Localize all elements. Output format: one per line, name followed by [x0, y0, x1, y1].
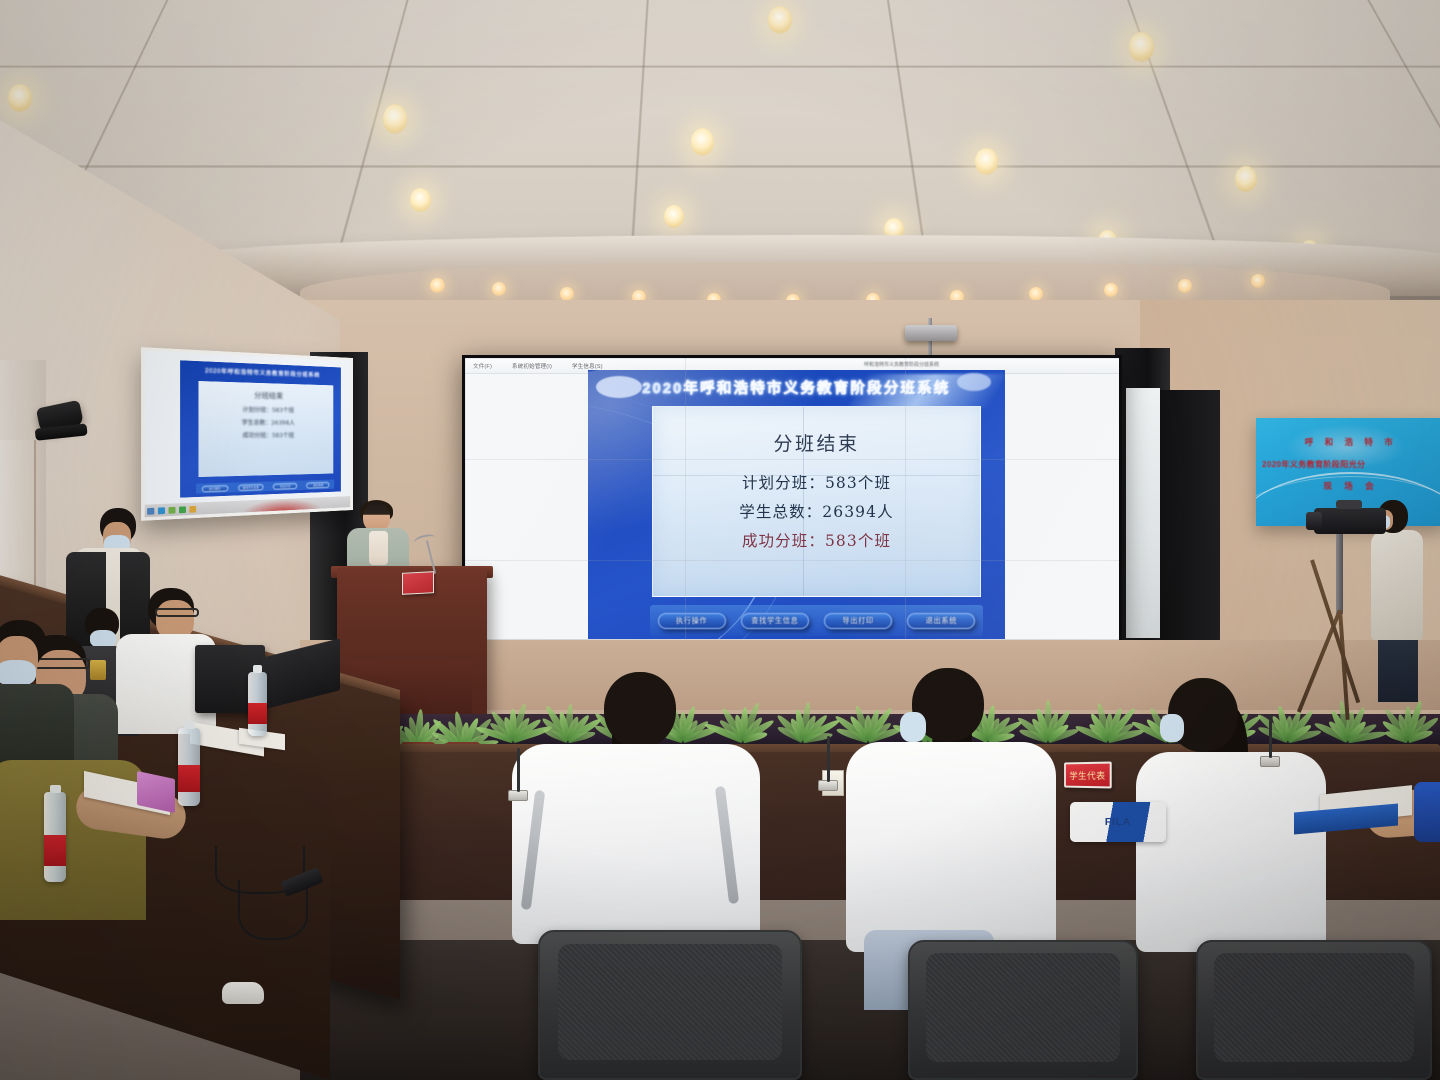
potted-plant [845, 694, 891, 740]
camera-lens-icon [1306, 512, 1322, 530]
wall-tv-panel: 分班结束 计划分班：583个班 学生总数：26394人 成功分班：583个班 [198, 381, 333, 477]
ceiling-downlight [1129, 32, 1154, 62]
ceiling-downlight [430, 278, 445, 293]
ceiling-projector [905, 325, 957, 341]
student-representative-sign: 学生代表 [1064, 761, 1112, 788]
glasses-icon [155, 608, 199, 617]
fila-armband: FILA [1070, 802, 1166, 842]
menu-item-student-info[interactable]: 学生信息(S) [572, 362, 603, 370]
wall-tv-app-title: 2020年呼和浩特市义务教育阶段分班系统 [185, 365, 337, 379]
wall-tv-line: 学生总数：26394人 [198, 417, 333, 426]
menu-item-system-init[interactable]: 系统初始管理(I) [512, 362, 552, 370]
ceiling-downlight [410, 188, 431, 212]
right-glass-panel [1126, 388, 1160, 638]
potted-plant [395, 702, 441, 748]
menu-item-file[interactable]: 文件(F) [473, 362, 492, 370]
wall-tv-screen: 2020年呼和浩特市义务教育阶段分班系统 分班结束 计划分班：583个班 学生总… [145, 351, 350, 517]
exit-system-button[interactable]: 退出系统 [907, 613, 975, 629]
video-camera [1314, 508, 1386, 534]
potted-plant [780, 694, 826, 740]
podium-emblem [402, 571, 434, 595]
panel-heading: 分班结束 [653, 429, 980, 456]
student-white-shirt [1136, 752, 1326, 952]
wall-tv-line: 成功分班：583个班 [198, 431, 333, 440]
potted-plant [1085, 694, 1131, 740]
wall-tv-button-bar: 执行操作 查找学生信息 导出打印 退出系统 [196, 480, 334, 494]
water-bottle [44, 792, 66, 882]
result-panel: 分班结束 计划分班：583个班 学生总数：26394人 成功分班：583个班 [652, 406, 981, 597]
desk-microphone [827, 736, 830, 782]
office-chair[interactable] [1196, 940, 1432, 1080]
potted-plant [1025, 694, 1071, 740]
wall-tv-button: 执行操作 [201, 484, 228, 491]
potted-plant [545, 694, 591, 740]
wall-tv-button: 导出打印 [273, 482, 297, 489]
face-mask-icon [1160, 714, 1184, 742]
white-shoe [222, 982, 264, 1004]
potted-plant [720, 694, 766, 740]
office-chair[interactable] [908, 940, 1138, 1080]
ceiling-downlight [1235, 166, 1257, 192]
student-white-shirt [846, 742, 1056, 952]
ceiling-downlight [1178, 279, 1192, 293]
cameraman-body [1371, 530, 1423, 640]
result-lines: 计划分班：583个班 学生总数：26394人 成功分班：583个班 [653, 471, 980, 551]
app-button-bar: 执行操作 查找学生信息 导出打印 退出系统 [650, 605, 983, 636]
classroom-assignment-app: 2020年呼和浩特市义务教育阶段分班系统 分班结束 计划分班：583个班 学生总… [588, 370, 1005, 644]
ceiling-downlight [768, 6, 792, 34]
ceiling-downlight [383, 104, 407, 134]
wall-tv-button: 查找学生信息 [238, 483, 263, 490]
ceiling-downlight [560, 287, 574, 301]
ceiling-downlight [1029, 287, 1043, 301]
result-line-total-students: 学生总数：26394人 [739, 500, 893, 522]
ceiling-downlight [1251, 274, 1265, 288]
tripod-column [1336, 534, 1343, 614]
desk-microphone [1269, 714, 1272, 758]
uniform-insignia [90, 660, 106, 680]
projected-desktop: 文件(F) 系统初始管理(I) 学生信息(S) 呼和浩特市义务教育阶段分班系统 … [465, 358, 1119, 657]
speaker-shirt [369, 531, 388, 565]
office-chair[interactable] [538, 930, 802, 1080]
potted-plant [490, 694, 536, 740]
water-bottle [248, 672, 267, 736]
wall-tv-app-window: 2020年呼和浩特市义务教育阶段分班系统 分班结束 计划分班：583个班 学生总… [180, 360, 341, 497]
ceiling-downlight [8, 84, 32, 112]
export-print-button[interactable]: 导出打印 [824, 613, 892, 629]
conference-room-scene: 2020年呼和浩特市义务教育阶段分班系统 分班结束 计划分班：583个班 学生总… [0, 0, 1440, 1080]
find-student-info-button[interactable]: 查找学生信息 [741, 613, 809, 629]
cameraman-legs [1378, 632, 1418, 702]
camera-handle [1336, 500, 1362, 509]
app-title: 2020年呼和浩特市义务教育阶段分班系统 [588, 377, 1005, 398]
wall-tv-line: 计划分班：583个班 [198, 404, 333, 415]
wall-tv-button: 退出系统 [307, 481, 330, 488]
ceiling-downlight [975, 148, 998, 175]
water-bottle [178, 728, 200, 806]
led-line-event: 2020年义务教育阶段阳光分 [1262, 459, 1440, 470]
result-line-planned: 计划分班：583个班 [742, 471, 891, 493]
student-head [604, 672, 676, 748]
right-person-blue-sleeve [1414, 782, 1440, 842]
main-projection-screen: 文件(F) 系统初始管理(I) 学生信息(S) 呼和浩特市义务教育阶段分班系统 … [462, 355, 1122, 660]
face-mask-icon [0, 660, 36, 686]
glasses-icon [34, 658, 90, 669]
potted-plant [440, 702, 486, 748]
wall-mounted-tv[interactable]: 2020年呼和浩特市义务教育阶段分班系统 分班结束 计划分班：583个班 学生总… [141, 347, 353, 521]
desk-microphone [517, 748, 520, 792]
ceiling-downlight [691, 128, 714, 156]
face-mask-icon [900, 712, 926, 742]
right-dark-door[interactable] [1160, 390, 1220, 640]
result-line-successful: 成功分班：583个班 [742, 529, 891, 551]
wall-tv-heading: 分班结束 [198, 389, 333, 403]
led-line-meeting: 现 场 会 [1256, 480, 1440, 492]
execute-operation-button[interactable]: 执行操作 [658, 613, 726, 629]
led-line-city: 呼 和 浩 特 市 [1256, 436, 1440, 448]
app-window-caption: 呼和浩特市义务教育阶段分班系统 [864, 361, 939, 368]
ceiling-downlight [492, 282, 506, 296]
ceiling-downlight [1104, 283, 1118, 297]
ceiling-downlight [664, 205, 684, 228]
